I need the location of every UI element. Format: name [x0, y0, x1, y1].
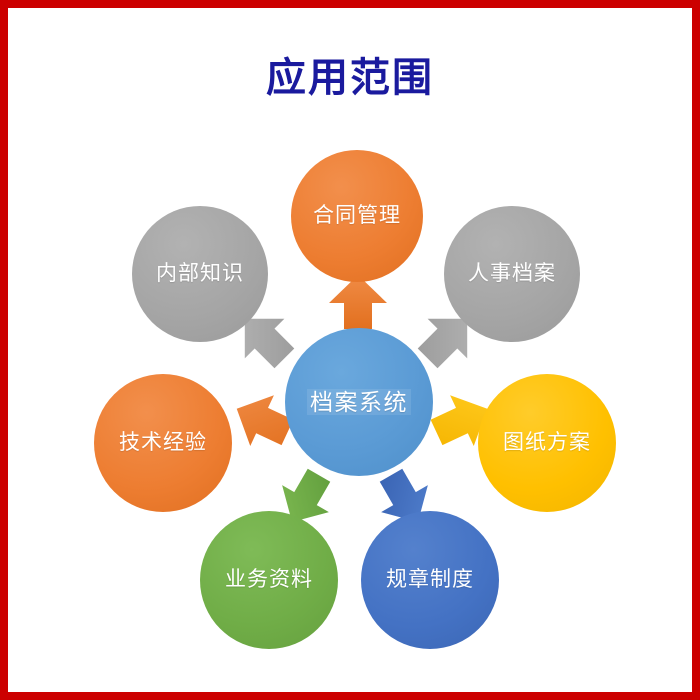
- node-label-rules-and-regulations: 规章制度: [386, 568, 474, 592]
- node-label-contract-management: 合同管理: [313, 204, 401, 228]
- node-internal-knowledge[interactable]: 内部知识: [132, 206, 268, 342]
- node-drawing-plans[interactable]: 图纸方案: [478, 374, 616, 512]
- node-personnel-files[interactable]: 人事档案: [444, 206, 580, 342]
- node-technical-experience[interactable]: 技术经验: [94, 374, 232, 512]
- node-label-business-materials: 业务资料: [225, 568, 313, 592]
- node-label-internal-knowledge: 内部知识: [156, 262, 244, 286]
- node-label-technical-experience: 技术经验: [119, 431, 207, 455]
- node-label-personnel-files: 人事档案: [468, 262, 556, 286]
- center-node-label: 档案系统: [307, 389, 411, 415]
- radial-diagram: 档案系统 合同管理 人事档案 图纸方案 规章制度 业务资料: [8, 8, 692, 692]
- center-node-archive-system[interactable]: 档案系统: [285, 328, 433, 476]
- diagram-canvas: 应用范围: [8, 8, 692, 692]
- node-rules-and-regulations[interactable]: 规章制度: [361, 511, 499, 649]
- arrow-up-to-contract-management: [327, 274, 389, 330]
- image-frame: 应用范围: [0, 0, 700, 700]
- node-contract-management[interactable]: 合同管理: [291, 150, 423, 282]
- node-business-materials[interactable]: 业务资料: [200, 511, 338, 649]
- node-label-drawing-plans: 图纸方案: [503, 431, 591, 455]
